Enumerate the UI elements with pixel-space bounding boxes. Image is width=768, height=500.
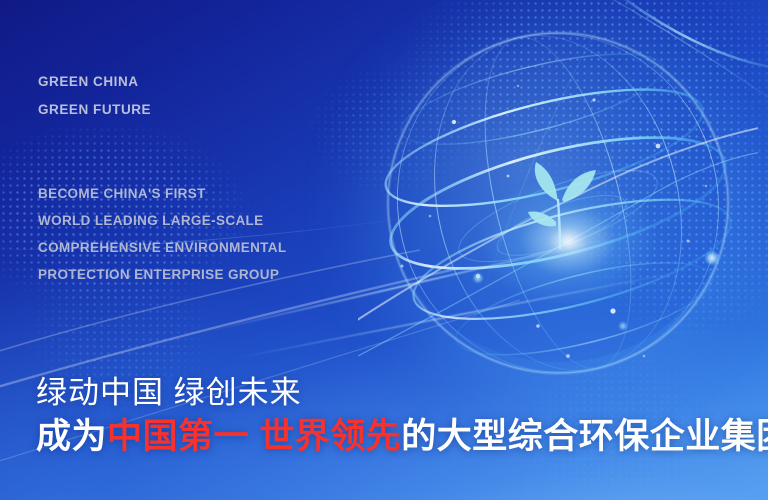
headline-prefix: 成为 <box>36 417 107 456</box>
eyebrow-line-2: GREEN FUTURE <box>38 102 151 117</box>
subheading-line-2: WORLD LEADING LARGE-SCALE <box>38 213 264 228</box>
subheading-line-4: PROTECTION ENTERPRISE GROUP <box>38 267 279 282</box>
headline-suffix: 的大型综合环保企业集团 <box>401 417 768 456</box>
subheading-line-1: BECOME CHINA'S FIRST <box>38 186 206 201</box>
headline-highlight: 中国第一 世界领先 <box>107 417 401 456</box>
subheading-line-3: COMPREHENSIVE ENVIRONMENTAL <box>38 240 286 255</box>
headline-chinese-line-2: 成为中国第一 世界领先的大型综合环保企业集团 <box>36 408 768 459</box>
headline-chinese-line-1: 绿动中国 绿创未来 <box>36 367 302 412</box>
globe-graphic <box>358 26 758 376</box>
eyebrow-line-1: GREEN CHINA <box>38 74 139 89</box>
hero-banner: GREEN CHINA GREEN FUTURE BECOME CHINA'S … <box>0 0 768 500</box>
